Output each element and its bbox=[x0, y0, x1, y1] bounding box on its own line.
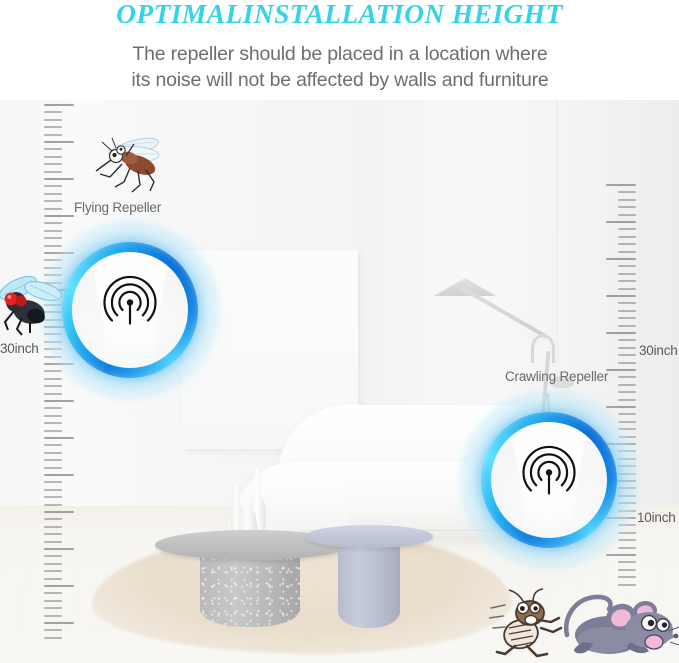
ruler-tick-minor bbox=[44, 578, 62, 580]
ruler-tick-minor bbox=[44, 467, 62, 469]
cockroach-illustration bbox=[489, 588, 571, 663]
ruler-tick-minor bbox=[44, 518, 62, 520]
ruler-tick-minor bbox=[44, 496, 62, 498]
housefly-illustration bbox=[0, 272, 68, 340]
ruler-tick-minor bbox=[618, 251, 636, 253]
ruler-tick-major bbox=[44, 437, 74, 439]
ruler-tick-minor bbox=[44, 600, 62, 602]
crawling-repeller-face bbox=[491, 422, 607, 538]
lamp-arm bbox=[461, 286, 548, 338]
ruler-tick-major bbox=[44, 622, 74, 624]
flying-repeller-label: Flying Repeller bbox=[74, 200, 161, 215]
ruler-tick-minor bbox=[44, 459, 62, 461]
ruler-tick-minor bbox=[44, 415, 62, 417]
ruler-tick-minor bbox=[44, 489, 62, 491]
ruler-tick-major bbox=[606, 295, 636, 297]
ruler-tick-minor bbox=[44, 422, 62, 424]
ruler-tick-minor bbox=[44, 126, 62, 128]
subtitle-line-1: The repeller should be placed in a locat… bbox=[60, 41, 620, 67]
ruler-tick-minor bbox=[618, 273, 636, 275]
ruler-tick-minor bbox=[618, 317, 636, 319]
infographic-root: 30inch 30inch 10inch Flying Repeller bbox=[0, 0, 679, 663]
ruler-tick-minor bbox=[618, 310, 636, 312]
ruler-tick-minor bbox=[44, 533, 62, 535]
ruler-tick-minor bbox=[44, 119, 62, 121]
ruler-tick-major bbox=[44, 141, 74, 143]
ruler-tick-minor bbox=[44, 163, 62, 165]
ruler-tick-minor bbox=[618, 265, 636, 267]
page-subtitle: The repeller should be placed in a locat… bbox=[60, 41, 620, 93]
ruler-tick-minor bbox=[618, 228, 636, 230]
blue-side-table-top bbox=[305, 525, 433, 548]
flying-repeller-face bbox=[72, 252, 188, 368]
ruler-tick-major bbox=[44, 215, 74, 217]
ruler-tick-minor bbox=[44, 430, 62, 432]
ruler-tick-minor bbox=[44, 171, 62, 173]
ruler-tick-minor bbox=[44, 570, 62, 572]
ruler-tick-minor bbox=[44, 156, 62, 158]
ruler-tick-minor bbox=[618, 214, 636, 216]
ruler-tick-minor bbox=[618, 236, 636, 238]
ruler-tick-minor bbox=[44, 111, 62, 113]
ruler-tick-minor bbox=[618, 376, 636, 378]
ruler-tick-minor bbox=[618, 362, 636, 364]
ruler-tick-minor bbox=[44, 563, 62, 565]
ruler-tick-minor bbox=[44, 444, 62, 446]
ruler-tick-minor bbox=[44, 148, 62, 150]
ruler-label-left-30inch: 30inch bbox=[0, 341, 39, 356]
ruler-tick-minor bbox=[44, 607, 62, 609]
ruler-tick-minor bbox=[618, 280, 636, 282]
ruler-tick-major bbox=[606, 332, 636, 334]
crawling-repeller-label: Crawling Repeller bbox=[505, 369, 608, 384]
ruler-label-right-10inch: 10inch bbox=[637, 510, 676, 525]
ruler-tick-minor bbox=[44, 193, 62, 195]
ruler-tick-major bbox=[606, 258, 636, 260]
ruler-tick-minor bbox=[44, 407, 62, 409]
ruler-tick-minor bbox=[618, 384, 636, 386]
ruler-tick-major bbox=[44, 104, 74, 106]
blue-side-table-base bbox=[338, 536, 400, 628]
gray-coffee-table-base bbox=[200, 549, 300, 627]
ruler-label-right-30inch: 30inch bbox=[639, 343, 678, 358]
ruler-tick-major bbox=[44, 178, 74, 180]
ruler-tick-minor bbox=[618, 206, 636, 208]
ruler-tick-minor bbox=[618, 347, 636, 349]
ruler-tick-major bbox=[606, 221, 636, 223]
ultrasonic-wave-icon bbox=[99, 272, 161, 339]
ruler-tick-minor bbox=[44, 555, 62, 557]
ruler-tick-major bbox=[44, 585, 74, 587]
crawling-repeller-device[interactable] bbox=[459, 390, 639, 570]
ruler-tick-major bbox=[44, 511, 74, 513]
lamp-joint bbox=[531, 334, 555, 363]
ruler-tick-minor bbox=[44, 637, 62, 639]
ruler-tick-minor bbox=[618, 325, 636, 327]
ruler-tick-minor bbox=[618, 576, 636, 578]
mosquito-illustration bbox=[88, 130, 174, 196]
ruler-tick-major bbox=[606, 369, 636, 371]
ruler-tick-major bbox=[44, 474, 74, 476]
ruler-tick-minor bbox=[44, 208, 62, 210]
ruler-tick-major bbox=[44, 548, 74, 550]
ruler-tick-minor bbox=[44, 592, 62, 594]
ruler-tick-minor bbox=[44, 541, 62, 543]
subtitle-line-2: its noise will not be affected by walls … bbox=[60, 67, 620, 93]
ruler-tick-minor bbox=[44, 615, 62, 617]
ruler-tick-minor bbox=[44, 629, 62, 631]
ruler-tick-minor bbox=[618, 288, 636, 290]
ruler-tick-minor bbox=[618, 339, 636, 341]
ruler-tick-minor bbox=[618, 243, 636, 245]
ruler-tick-minor bbox=[44, 504, 62, 506]
ruler-tick-minor bbox=[44, 134, 62, 136]
ruler-tick-minor bbox=[618, 354, 636, 356]
ruler-tick-minor bbox=[618, 199, 636, 201]
page-title: OPTIMALINSTALLATION HEIGHT bbox=[0, 0, 679, 30]
ruler-tick-major bbox=[606, 184, 636, 186]
ruler-tick-minor bbox=[44, 526, 62, 528]
ruler-tick-minor bbox=[44, 185, 62, 187]
ruler-tick-minor bbox=[618, 302, 636, 304]
ruler-tick-minor bbox=[618, 191, 636, 193]
ruler-tick-minor bbox=[44, 452, 62, 454]
ultrasonic-wave-icon bbox=[518, 442, 580, 509]
ruler-tick-minor bbox=[44, 481, 62, 483]
ruler-tick-minor bbox=[44, 200, 62, 202]
ruler-tick-major bbox=[44, 400, 74, 402]
mouse-illustration bbox=[561, 585, 679, 663]
